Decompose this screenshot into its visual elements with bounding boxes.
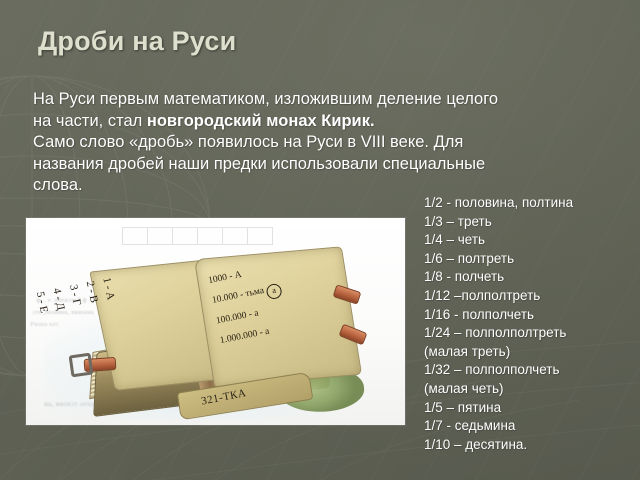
fraction-terms-list: 1/2 - половина, полтина1/3 – треть1/4 – … <box>424 194 640 454</box>
body-copy: На Руси первым математиком, изложившим д… <box>33 89 503 197</box>
right-page-line-text: 1.000.000 - а <box>219 327 270 346</box>
fraction-term-row: (малая треть) <box>424 343 640 362</box>
book-strip-text: 321-ТКА <box>200 387 247 407</box>
fraction-term-row: 1/16 - полполчеть <box>424 306 640 325</box>
fraction-term-row: 1/6 – полтреть <box>424 250 640 269</box>
fraction-term-row: (малая четь) <box>424 380 640 399</box>
right-page-numerals: 1000 - А10.000 - тьма а100.000 - а1.000.… <box>207 260 291 353</box>
fraction-term-row: 1/8 - полчеть <box>424 268 640 287</box>
fraction-term-row: 1/4 – четь <box>424 231 640 250</box>
fraction-term-row: 1/3 – треть <box>424 213 640 232</box>
fraction-term-row: 1/2 - половина, полтина <box>424 194 640 213</box>
right-page-line-text: 100.000 - а <box>215 308 259 326</box>
paragraph-1-emphasis: новгородский монах Кирик. <box>147 112 375 130</box>
fraction-term-row: 1/32 – полполполчеть <box>424 361 640 380</box>
ghost-table-boxes <box>122 227 272 243</box>
fraction-term-row: 1/10 – десятина. <box>424 436 640 455</box>
paragraph-2: Само слово «дробь» появилось на Руси в V… <box>33 132 503 197</box>
fraction-term-row: 1/12 –полполтреть <box>424 287 640 306</box>
right-page-line-text: 1000 - А <box>207 270 242 286</box>
old-book: 1 - А2 - В3 - Г4 - Д5 - Е 1000 - А10.000… <box>82 242 382 417</box>
paragraph-1: На Руси первым математиком, изложившим д… <box>33 89 503 132</box>
fraction-term-row: 1/24 – полполполтреть <box>424 324 640 343</box>
book-clasp-ring <box>69 353 94 378</box>
fraction-term-row: 1/7 - седьмина <box>424 417 640 436</box>
page-title: Дроби на Руси <box>38 26 236 57</box>
right-page-line-text: 10.000 - тьма <box>211 286 265 306</box>
slide-canvas: Дроби на Руси На Руси первым математиком… <box>0 0 640 480</box>
fraction-term-row: 1/5 – пятина <box>424 399 640 418</box>
circled-glyph-icon: а <box>265 283 283 301</box>
book-illustration: ф йотсичбо .ч .. ф аньокив ,аниколо, отс… <box>26 218 405 425</box>
